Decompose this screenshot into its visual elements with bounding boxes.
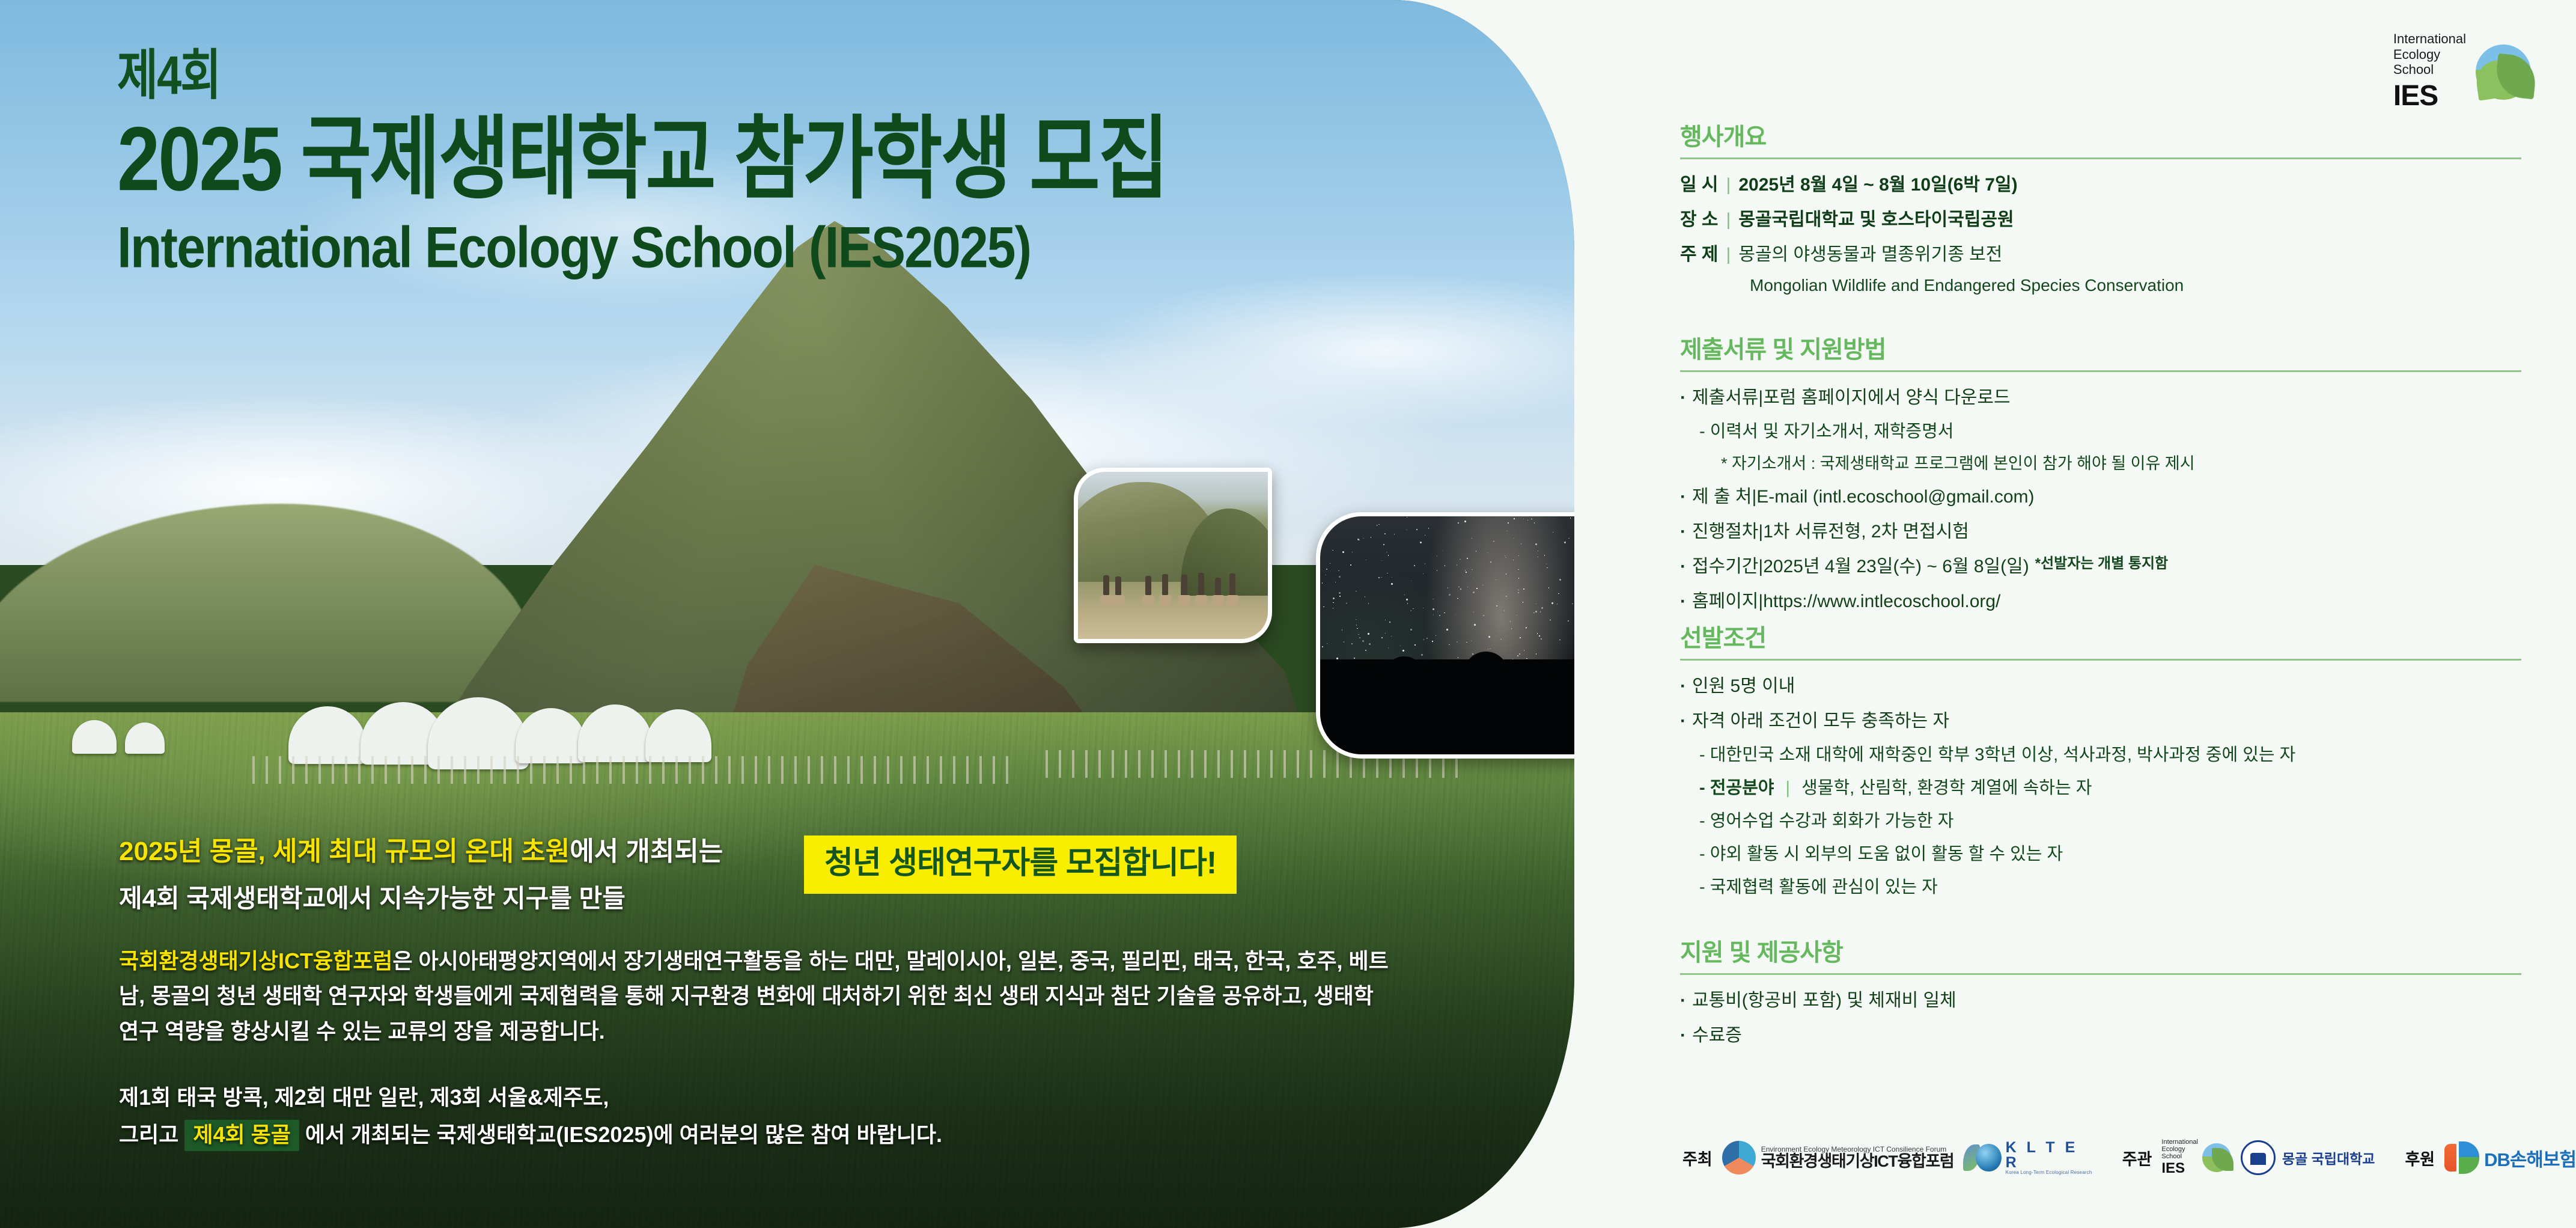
ies-logo: International Ecology School IES xyxy=(2393,31,2531,112)
criteria-text: 인원 5명 이내 xyxy=(1692,673,1795,700)
apply-label: 접수기간 xyxy=(1692,553,1758,580)
apply-website-link[interactable]: https://www.intlecoschool.org/ xyxy=(1763,588,2000,615)
divider-bar: | xyxy=(1758,588,1763,615)
person-head xyxy=(1426,660,1461,692)
history-paragraph: 제1회 태국 방콕, 제2회 대만 일란, 제3회 서울&제주도, 그리고 제4… xyxy=(119,1079,1393,1153)
db-insurance-logo: DB손해보험 xyxy=(2444,1141,2576,1174)
rider-silhouette xyxy=(1181,575,1187,596)
ies-small-wordmark: International Ecology School IES xyxy=(2161,1139,2198,1176)
person-head xyxy=(1385,656,1423,692)
ies-logo-abbr: IES xyxy=(2393,79,2466,113)
divider-bar: | xyxy=(1726,206,1731,233)
bullet-dot: · xyxy=(1680,553,1686,580)
bullet-dot: · xyxy=(1680,384,1686,411)
globe-icon xyxy=(1976,1144,2002,1171)
ies-small-logo: International Ecology School IES xyxy=(2161,1139,2231,1176)
overview-value: 몽골의 야생동물과 멸종위기종 보전 xyxy=(1738,241,2002,268)
person-head xyxy=(1511,661,1548,692)
intro-paragraph: 국회환경생태기상ICT융합포럼은 아시아태평양지역에서 장기생태연구활동을 하는… xyxy=(119,944,1393,1049)
university-seal-icon xyxy=(2241,1140,2276,1175)
criteria-dash: - 국제협력 활동에 관심이 있는 자 xyxy=(1699,875,2521,900)
section-support-title: 지원 및 제공사항 xyxy=(1680,939,2521,973)
sponsor-label-organizer: 주관 xyxy=(2122,1146,2152,1170)
section-criteria: 선발조건 · 인원 5명 이내 · 자격 아래 조건이 모두 충족하는 자 - … xyxy=(1680,625,2521,908)
rider-silhouette xyxy=(1162,574,1168,596)
bullet-dot: · xyxy=(1680,588,1686,615)
criteria-dash: - 영어수업 수강과 회화가 가능한 자 xyxy=(1699,808,2521,834)
tagline-highlight: 2025년 몽골, 세계 최대 규모의 온대 초원 xyxy=(119,837,570,866)
support-text: 수료증 xyxy=(1692,1022,1742,1049)
db-mark-icon xyxy=(2444,1141,2479,1174)
closing-line: 그리고 제4회 몽골 에서 개최되는 국제생태학교(IES2025)에 여러분의… xyxy=(119,1116,1393,1153)
overview-subtitle-english: Mongolian Wildlife and Endangered Specie… xyxy=(1750,276,2521,295)
bullet-dot: · xyxy=(1680,483,1686,510)
section-divider xyxy=(1680,157,2521,159)
divider-bar: | xyxy=(1786,778,1791,798)
apply-label: 홈페이지 xyxy=(1692,588,1758,615)
divider-bar: | xyxy=(1726,171,1731,198)
apply-row: · 진행절차 | 1차 서류전형, 2차 면접시험 xyxy=(1680,518,2521,545)
camp-fence xyxy=(252,756,1009,784)
rider-silhouette xyxy=(1229,573,1235,596)
apply-value: 포럼 홈페이지에서 양식 다운로드 xyxy=(1763,384,2010,411)
leaf-globe-icon xyxy=(2476,44,2531,100)
ies-logo-line-3: School xyxy=(2393,62,2466,78)
history-line: 제1회 태국 방콕, 제2회 대만 일란, 제3회 서울&제주도, xyxy=(119,1079,1393,1116)
support-bullet: · 수료증 xyxy=(1680,1022,2521,1049)
criteria-major-value: 생물학, 산림학, 환경학 계열에 속하는 자 xyxy=(1801,778,2092,798)
support-bullet: · 교통비(항공비 포함) 및 체재비 일체 xyxy=(1680,987,2521,1014)
ies-logo-wordmark: International Ecology School IES xyxy=(2393,31,2466,112)
klter-subtitle: Korea Long-Term Ecological Research xyxy=(2006,1170,2092,1175)
rider-silhouette xyxy=(1103,575,1109,596)
closing-chip: 제4회 몽골 xyxy=(184,1120,299,1151)
sponsor-group-host: 주최 Environment Ecology Meteorology ICT C… xyxy=(1682,1140,2092,1175)
inset-photo-stargazers xyxy=(1316,512,1574,759)
tagline-tail: 에서 개최되는 xyxy=(570,837,723,866)
klter-name: K L T E R xyxy=(2006,1140,2092,1170)
overview-label: 일 시 xyxy=(1680,171,1719,198)
overview-row: 장 소 | 몽골국립대학교 및 호스타이국립공원 xyxy=(1680,206,2521,233)
forum-logo: Environment Ecology Meteorology ICT Cons… xyxy=(1722,1141,1954,1175)
section-divider xyxy=(1680,973,2521,975)
forum-logo-text: Environment Ecology Meteorology ICT Cons… xyxy=(1761,1146,1954,1170)
criteria-bullet: · 자격 아래 조건이 모두 충족하는 자 xyxy=(1680,707,2521,735)
rider-silhouette xyxy=(1145,576,1151,596)
sponsor-group-organizer: 주관 International Ecology School IES 몽골 국… xyxy=(2122,1139,2375,1176)
section-overview: 행사개요 일 시 | 2025년 8월 4일 ~ 8월 10일(6박 7일) 장… xyxy=(1680,124,2521,303)
apply-email-value[interactable]: E-mail (intl.ecoschool@gmail.com) xyxy=(1756,483,2034,510)
closing-post: 에서 개최되는 국제생태학교(IES2025)에 여러분의 많은 참여 바랍니다… xyxy=(305,1122,942,1147)
ies-small-abbr: IES xyxy=(2161,1161,2198,1176)
divider-bar: | xyxy=(1752,483,1756,510)
klter-logo-text: K L T E R Korea Long-Term Ecological Res… xyxy=(2006,1140,2092,1175)
overview-row: 일 시 | 2025년 8월 4일 ~ 8월 10일(6박 7일) xyxy=(1680,171,2521,198)
criteria-text: 자격 아래 조건이 모두 충족하는 자 xyxy=(1692,707,1949,735)
support-text: 교통비(항공비 포함) 및 체재비 일체 xyxy=(1692,987,1956,1014)
apply-row: · 접수기간 | 2025년 4월 23일(수) ~ 6월 8일(일) *선발자… xyxy=(1680,553,2521,580)
headline-kicker: 제4회 xyxy=(117,47,1168,104)
criteria-dash: - 야외 활동 시 외부의 도움 없이 활동 할 수 있는 자 xyxy=(1699,842,2521,867)
apply-star-note: * 자기소개서 : 국제생태학교 프로그램에 본인이 참가 해야 될 이유 제시 xyxy=(1721,452,2521,475)
forum-logo-korean: 국회환경생태기상ICT융합포럼 xyxy=(1761,1153,1954,1170)
criteria-major-label: - 전공분야 xyxy=(1699,778,1774,798)
apply-deadline-note: *선발자는 개별 통지함 xyxy=(2035,553,2168,575)
sponsor-strip: 주최 Environment Ecology Meteorology ICT C… xyxy=(1682,1139,2576,1176)
overview-value: 2025년 8월 4일 ~ 8월 10일(6박 7일) xyxy=(1738,171,2017,198)
ies-logo-line-1: International xyxy=(2393,31,2466,47)
apply-label: 진행절차 xyxy=(1692,518,1758,545)
section-divider xyxy=(1680,370,2521,372)
bullet-dot: · xyxy=(1680,673,1686,700)
triple-swirl-icon xyxy=(1722,1141,1756,1175)
criteria-dash-major: - 전공분야 | 생물학, 산림학, 환경학 계열에 속하는 자 xyxy=(1699,775,2521,801)
bullet-dot: · xyxy=(1680,987,1686,1014)
divider-bar: | xyxy=(1726,241,1731,268)
section-divider xyxy=(1680,659,2521,661)
sponsor-label-supporter: 후원 xyxy=(2405,1146,2435,1170)
mongolia-university-name: 몽골 국립대학교 xyxy=(2282,1147,2375,1168)
bullet-dot: · xyxy=(1680,1022,1686,1049)
headline-block: 제4회 2025 국제생태학교 참가학생 모집 International Ec… xyxy=(117,47,1168,270)
forum-name-highlight: 국회환경생태기상ICT융합포럼 xyxy=(119,948,392,973)
apply-dash-note: - 이력서 및 자기소개서, 재학증명서 xyxy=(1699,419,2521,444)
cta-text: 청년 생태연구자를 모집합니다! xyxy=(824,847,1216,880)
rider-silhouette xyxy=(1115,576,1121,596)
bullet-dot: · xyxy=(1680,518,1686,545)
criteria-dash: - 대한민국 소재 대학에 재학중인 학부 3학년 이상, 석사과정, 박사과정… xyxy=(1699,742,2521,768)
section-apply-title: 제출서류 및 지원방법 xyxy=(1680,337,2521,370)
headline-main: 2025 국제생태학교 참가학생 모집 xyxy=(117,114,1168,205)
apply-deadline-value: 2025년 4월 23일(수) ~ 6월 8일(일) xyxy=(1763,553,2029,580)
closing-pre: 그리고 xyxy=(119,1122,178,1147)
criteria-bullet: · 인원 5명 이내 xyxy=(1680,673,2521,700)
db-insurance-name: DB손해보험 xyxy=(2484,1144,2576,1171)
apply-value: 1차 서류전형, 2차 면접시험 xyxy=(1763,518,1969,545)
overview-label: 주 제 xyxy=(1680,241,1719,268)
divider-bar: | xyxy=(1758,518,1763,545)
apply-label: 제출서류 xyxy=(1692,384,1758,411)
section-overview-title: 행사개요 xyxy=(1680,124,2521,157)
apply-row: · 제 출 처 | E-mail (intl.ecoschool@gmail.c… xyxy=(1680,483,2521,510)
overview-row: 주 제 | 몽골의 야생동물과 멸종위기종 보전 xyxy=(1680,241,2521,268)
sponsor-label-host: 주최 xyxy=(1682,1146,1713,1170)
leaf-globe-small-icon xyxy=(2202,1143,2231,1172)
mongolia-university-logo: 몽골 국립대학교 xyxy=(2241,1140,2375,1175)
poster-root: 제4회 2025 국제생태학교 참가학생 모집 International Ec… xyxy=(0,0,2576,1228)
sponsor-group-supporter: 후원 DB손해보험 xyxy=(2405,1141,2576,1174)
apply-label: 제 출 처 xyxy=(1692,483,1752,510)
apply-row: · 제출서류 | 포럼 홈페이지에서 양식 다운로드 xyxy=(1680,384,2521,411)
rider-silhouette xyxy=(1215,578,1221,596)
rider-silhouette xyxy=(1198,573,1204,596)
ies-logo-line-2: Ecology xyxy=(2393,47,2466,63)
klter-logo: K L T E R Korea Long-Term Ecological Res… xyxy=(1963,1140,2092,1175)
section-apply: 제출서류 및 지원방법 · 제출서류 | 포럼 홈페이지에서 양식 다운로드 -… xyxy=(1680,337,2521,623)
divider-bar: | xyxy=(1758,553,1763,580)
apply-row: · 홈페이지 | https://www.intlecoschool.org/ xyxy=(1680,588,2521,615)
bullet-dot: · xyxy=(1680,707,1686,735)
cta-callout-box: 청년 생태연구자를 모집합니다! xyxy=(804,835,1237,894)
section-criteria-title: 선발조건 xyxy=(1680,625,2521,659)
divider-bar: | xyxy=(1758,384,1763,411)
person-head xyxy=(1464,652,1508,692)
section-support: 지원 및 제공사항 · 교통비(항공비 포함) 및 체재비 일체 · 수료증 xyxy=(1680,939,2521,1057)
overview-label: 장 소 xyxy=(1680,206,1719,233)
headline-subtitle: International Ecology School (IES2025) xyxy=(117,219,1168,276)
info-panel: International Ecology School IES 행사개요 일 … xyxy=(1664,0,2576,1228)
person-head xyxy=(1345,664,1380,692)
hero-photo-panel: 제4회 2025 국제생태학교 참가학생 모집 International Ec… xyxy=(0,0,1574,1228)
overview-value: 몽골국립대학교 및 호스타이국립공원 xyxy=(1738,206,2014,233)
inset-photo-horse-riders xyxy=(1074,468,1272,643)
